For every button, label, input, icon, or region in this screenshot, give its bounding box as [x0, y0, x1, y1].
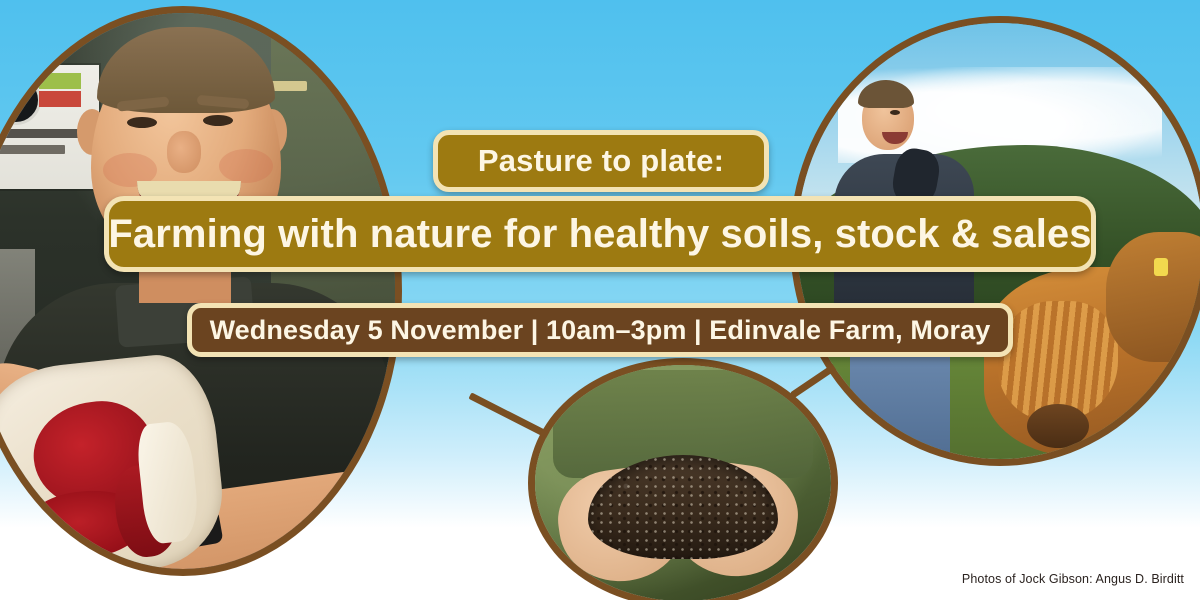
cow-ear-tag	[1154, 258, 1168, 276]
nose	[167, 131, 201, 173]
kicker-pill: Pasture to plate:	[433, 130, 769, 192]
headline-pill: Farming with nature for healthy soils, s…	[104, 196, 1096, 272]
sign-roundel-icon	[0, 75, 41, 125]
sign-text-line	[0, 145, 65, 154]
event-banner: Jock	[0, 0, 1200, 600]
photo-hands-soil	[528, 358, 838, 600]
event-details-pill: Wednesday 5 November | 10am–3pm | Edinva…	[187, 303, 1013, 357]
eye-left	[127, 117, 157, 128]
eye-right	[203, 115, 233, 126]
sign-swatch-green	[39, 73, 81, 89]
cheek-right	[219, 149, 273, 183]
beef-rib-joint	[0, 350, 229, 576]
photo-butcher-portrait: Jock	[0, 6, 402, 576]
sign-swatch-red	[39, 91, 81, 107]
sign-text-line	[0, 129, 83, 138]
cow-muzzle	[1027, 404, 1089, 448]
photo-credit: Photos of Jock Gibson: Angus D. Birditt	[962, 572, 1184, 586]
highland-cow-second	[1106, 232, 1200, 362]
